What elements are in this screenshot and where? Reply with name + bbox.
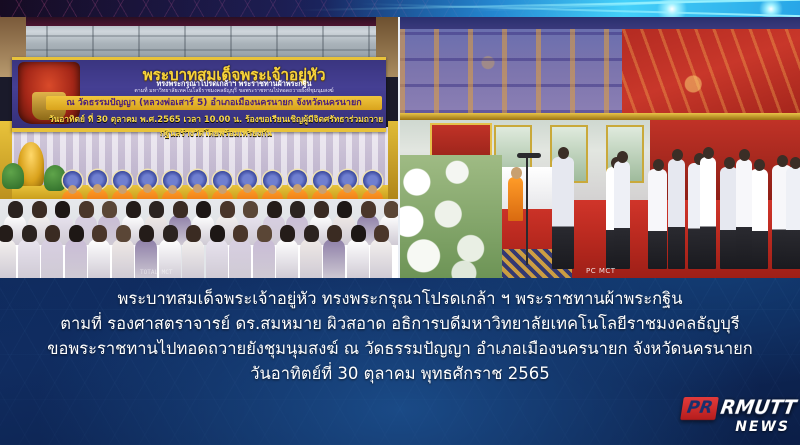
seated-monk	[508, 177, 523, 221]
audience-member	[65, 239, 87, 278]
audience-head	[267, 201, 282, 218]
audience-head	[102, 201, 117, 218]
official-attendee	[648, 169, 667, 269]
monk-head	[511, 167, 522, 179]
audience-member	[323, 239, 345, 278]
monk-head	[68, 185, 77, 194]
attendee-head	[672, 149, 683, 161]
official-attendee	[614, 161, 630, 269]
monk-head	[368, 185, 377, 194]
monk-head	[243, 184, 252, 193]
audience-head	[233, 225, 248, 242]
event-banner: พระบาทสมเด็จพระเจ้าอยู่หัว ทรงพระกรุณาโป…	[12, 57, 386, 132]
monk-head	[218, 185, 227, 194]
attendee-head	[739, 149, 750, 161]
lens-flare-icon	[655, 0, 689, 17]
official-attendee	[668, 159, 685, 269]
audience-head	[173, 201, 188, 218]
potted-plant	[2, 163, 24, 189]
attendee-head	[617, 151, 628, 163]
audience-head	[163, 225, 178, 242]
photo-right-watermark: PC MCT	[586, 267, 616, 275]
caption-line-3: ขอพระราชทานไปทอดถวายยังชุมนุมสงฆ์ ณ วัดธ…	[0, 336, 800, 361]
attendee-head	[754, 159, 765, 171]
attendee-head	[777, 155, 788, 167]
audience-head	[374, 225, 389, 242]
logo-pr-badge: PR	[680, 397, 718, 420]
monk-head	[293, 184, 302, 193]
audience-head	[22, 225, 37, 242]
official-attendee	[736, 159, 752, 269]
monk-head	[143, 184, 152, 193]
audience-member	[370, 239, 392, 278]
audience-head	[351, 225, 366, 242]
audience-head	[55, 201, 70, 218]
audience-head	[116, 225, 131, 242]
audience-head	[126, 201, 141, 218]
attendee-head	[724, 157, 735, 169]
audience-head	[337, 201, 352, 218]
stage-side-right	[388, 121, 398, 207]
logo-wordmark: PR RMUTT	[680, 397, 798, 420]
audience-head	[79, 201, 94, 218]
audience-head	[196, 201, 211, 218]
audience-head	[314, 201, 329, 218]
audience-head	[290, 201, 305, 218]
banner-line-3: ตามที่ มหาวิทยาลัยเทคโนโลยีราชมงคลธัญบุร…	[84, 87, 384, 95]
official-attendee	[750, 169, 768, 269]
audience-head	[186, 225, 201, 242]
logo-news-text: NEWS	[735, 419, 790, 435]
photo-outdoor-ceremony: พระบาทสมเด็จพระเจ้าอยู่หัว ทรงพระกรุณาโป…	[0, 17, 398, 278]
attendee-head	[790, 157, 800, 169]
monk-head	[168, 185, 177, 194]
news-graphic: พระบาทสมเด็จพระเจ้าอยู่หัว ทรงพระกรุณาโป…	[0, 0, 800, 445]
audience-head	[139, 225, 154, 242]
monk-head	[268, 185, 277, 194]
attendee-head	[703, 147, 714, 159]
audience-member	[253, 239, 275, 278]
monk-head	[93, 184, 102, 193]
audience-head	[32, 201, 47, 218]
photo-left-watermark: TOTAL MCT	[140, 269, 173, 276]
audience-head	[257, 225, 272, 242]
official-attendee	[552, 157, 574, 269]
monk-head	[318, 185, 327, 194]
audience-member	[88, 239, 110, 278]
audience-member	[0, 239, 16, 278]
microphone-stand-icon	[526, 157, 528, 265]
official-attendee	[786, 167, 800, 269]
audience-member	[347, 239, 369, 278]
photo-row: พระบาทสมเด็จพระเจ้าอยู่หัว ทรงพระกรุณาโป…	[0, 17, 800, 278]
top-accent-strip	[0, 0, 800, 17]
monk-head	[343, 184, 352, 193]
audience-member	[229, 239, 251, 278]
audience-head	[327, 225, 342, 242]
attendee-head	[558, 147, 569, 159]
audience-head	[8, 201, 23, 218]
caption-line-2: ตามที่ รองศาสตราจารย์ ดร.สมหมาย ผิวสอาด …	[0, 311, 800, 336]
attendee-head	[653, 159, 664, 171]
audience-member	[276, 239, 298, 278]
audience-head	[280, 225, 295, 242]
audience-head	[45, 225, 60, 242]
official-attendee	[700, 157, 716, 269]
audience-head	[384, 201, 398, 218]
audience-head	[304, 225, 319, 242]
banner-line-5: วันอาทิตย์ ที่ 30 ตุลาคม พ.ศ.2565 เวลา 1…	[46, 112, 386, 140]
audience-member	[300, 239, 322, 278]
caption-line-4: วันอาทิตย์ที่ 30 ตุลาคม พุทธศักราช 2565	[0, 361, 800, 386]
flower-arrangement	[400, 155, 502, 278]
logo-rmutt-text: RMUTT	[715, 398, 798, 419]
audience-head	[220, 201, 235, 218]
photo-temple-interior: PC MCT	[400, 17, 800, 278]
caption-block: พระบาทสมเด็จพระเจ้าอยู่หัว ทรงพระกรุณาโป…	[0, 286, 800, 386]
audience-member	[41, 239, 63, 278]
tent-roof-edge	[0, 17, 398, 26]
gold-cornice	[400, 113, 800, 120]
caption-line-1: พระบาทสมเด็จพระเจ้าอยู่หัว ทรงพระกรุณาโป…	[0, 286, 800, 311]
audience-member	[18, 239, 40, 278]
audience-head	[210, 225, 225, 242]
audience-head	[361, 201, 376, 218]
audience-head	[92, 225, 107, 242]
audience-area	[0, 199, 398, 278]
audience-head	[243, 201, 258, 218]
audience-head	[69, 225, 84, 242]
audience-head	[149, 201, 164, 218]
monk-head	[193, 184, 202, 193]
lens-flare-icon	[758, 0, 784, 17]
audience-head	[0, 225, 13, 242]
audience-member	[182, 239, 204, 278]
audience-member	[112, 239, 134, 278]
audience-member	[206, 239, 228, 278]
prmutt-news-logo: PR RMUTT NEWS	[682, 397, 792, 439]
monk-head	[118, 185, 127, 194]
banner-line-4: ณ วัดธรรมปัญญา (หลวงพ่อเสาร์ 5) อำเภอเมื…	[46, 96, 382, 110]
